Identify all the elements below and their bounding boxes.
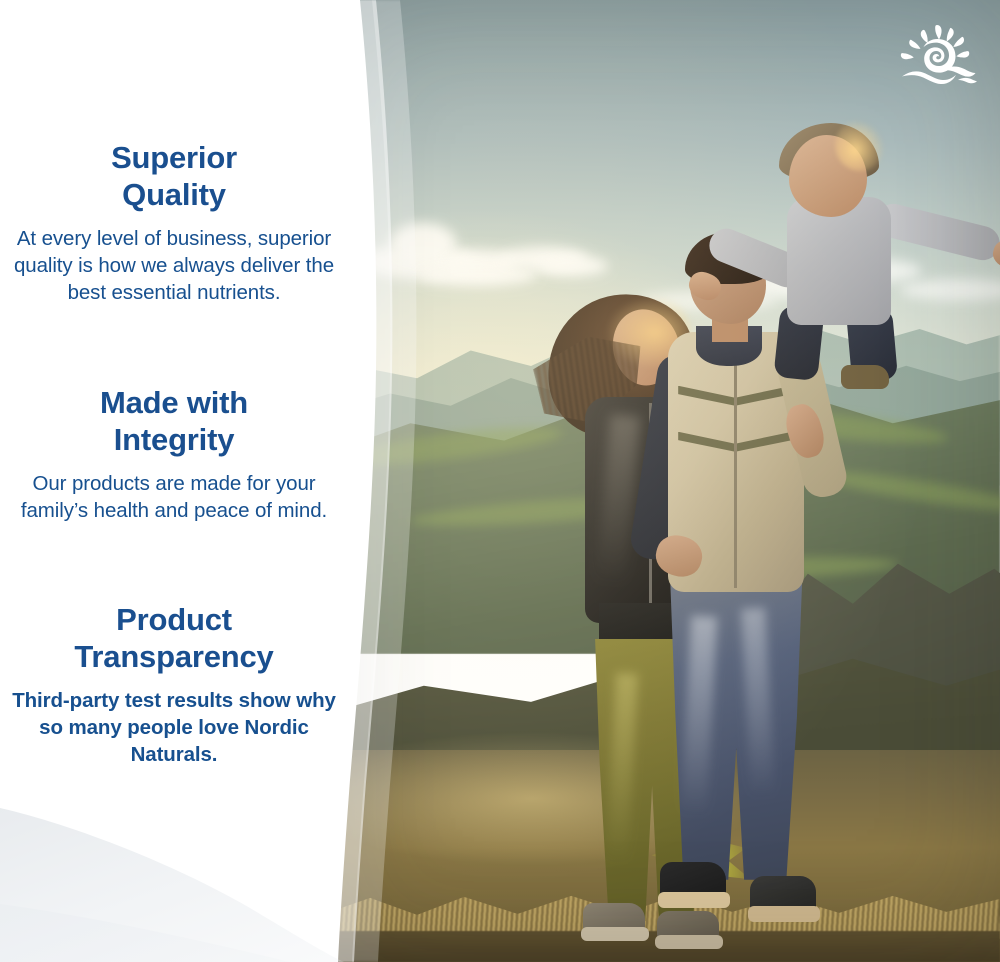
benefit-heading-line1: Made with xyxy=(100,385,248,420)
benefit-block-product-transparency: ProductTransparency Third-party test res… xyxy=(8,602,340,769)
benefit-heading-line2: Integrity xyxy=(114,422,235,457)
benefit-heading: ProductTransparency xyxy=(8,602,340,676)
benefit-heading: SuperiorQuality xyxy=(8,140,340,214)
father-boot-sole xyxy=(748,906,820,922)
benefit-heading: Made withIntegrity xyxy=(8,385,340,459)
benefit-heading-line2: Quality xyxy=(122,177,226,212)
benefits-text-column: SuperiorQuality At every level of busine… xyxy=(0,0,372,962)
benefit-heading-line1: Superior xyxy=(111,140,237,175)
benefit-body: Third-party test results show why so man… xyxy=(8,687,340,769)
sun-wave-logo-icon xyxy=(896,24,980,88)
father-boot-sole xyxy=(658,892,730,908)
benefit-heading-line1: Product xyxy=(116,602,232,637)
benefit-block-made-with-integrity: Made withIntegrity Our products are made… xyxy=(8,385,340,524)
benefit-body: Our products are made for your family’s … xyxy=(8,470,340,525)
benefit-block-superior-quality: SuperiorQuality At every level of busine… xyxy=(8,140,340,307)
child-hair-highlight xyxy=(835,119,885,171)
benefit-heading-line2: Transparency xyxy=(74,639,273,674)
vest-zipper xyxy=(734,338,737,588)
poster-canvas: SuperiorQuality At every level of busine… xyxy=(0,0,1000,962)
child-figure xyxy=(715,111,1000,361)
photo-layers xyxy=(330,0,1000,962)
child-shoe xyxy=(841,365,889,389)
family-mountain-photo xyxy=(330,0,1000,962)
cloud xyxy=(538,256,608,276)
child-arm xyxy=(873,200,1000,263)
benefit-body: At every level of business, superior qua… xyxy=(8,225,340,307)
